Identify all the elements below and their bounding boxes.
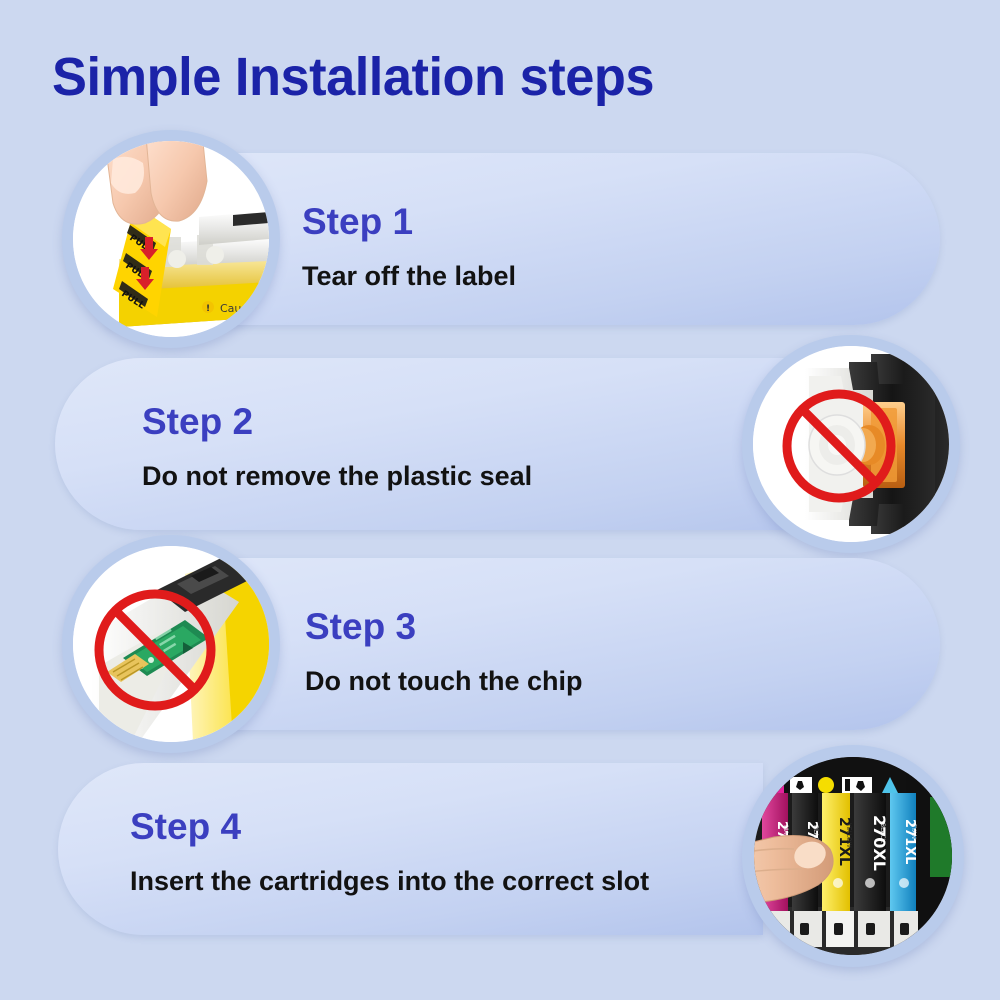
step-2-title: Step 2 (142, 403, 532, 440)
step-row-4: 271XL 271XL 271XL 270XL 271XL MAGENTA BL… (0, 735, 1000, 965)
step-1-text-block: Step 1 Tear off the label (302, 203, 516, 292)
svg-text:Cau: Cau (220, 302, 241, 315)
svg-text:CYAN: CYAN (910, 823, 917, 839)
cartridge-chip-photo (73, 546, 269, 742)
page-title: Simple Installation steps (52, 46, 654, 108)
step-2-image-circle (742, 335, 960, 553)
step-1-description: Tear off the label (302, 262, 516, 292)
step-1-title: Step 1 (302, 203, 516, 240)
tear-off-label-photo: ! Cau PULL PULL PULL (73, 141, 269, 337)
step-2-text-block: Step 2 Do not remove the plastic seal (142, 403, 532, 492)
step-4-description: Insert the cartridges into the correct s… (130, 867, 649, 897)
step-3-text-block: Step 3 Do not touch the chip (305, 608, 582, 697)
step-row-3: Step 3 Do not touch the chip (0, 530, 1000, 760)
step-2-description: Do not remove the plastic seal (142, 462, 532, 492)
plastic-seal-photo (753, 346, 949, 542)
svg-text:YELLOW: YELLOW (845, 822, 852, 848)
step-3-title: Step 3 (305, 608, 582, 645)
step-1-image-circle: ! Cau PULL PULL PULL (62, 130, 280, 348)
step-4-title: Step 4 (130, 808, 649, 845)
installation-steps-infographic: Simple Installation steps (0, 0, 1000, 1000)
step-3-image-circle (62, 535, 280, 753)
svg-text:BLACK: BLACK (879, 823, 886, 844)
insert-cartridges-photo: 271XL 271XL 271XL 270XL 271XL MAGENTA BL… (754, 757, 952, 955)
step-4-image-circle: 271XL 271XL 271XL 270XL 271XL MAGENTA BL… (742, 745, 964, 967)
step-3-description: Do not touch the chip (305, 667, 582, 697)
step-row-1: ! Cau PULL PULL PULL (0, 125, 1000, 355)
step-row-2: Step 2 Do not remove the plastic seal (0, 330, 1000, 560)
svg-text:!: ! (206, 304, 210, 314)
step-4-text-block: Step 4 Insert the cartridges into the co… (130, 808, 649, 897)
